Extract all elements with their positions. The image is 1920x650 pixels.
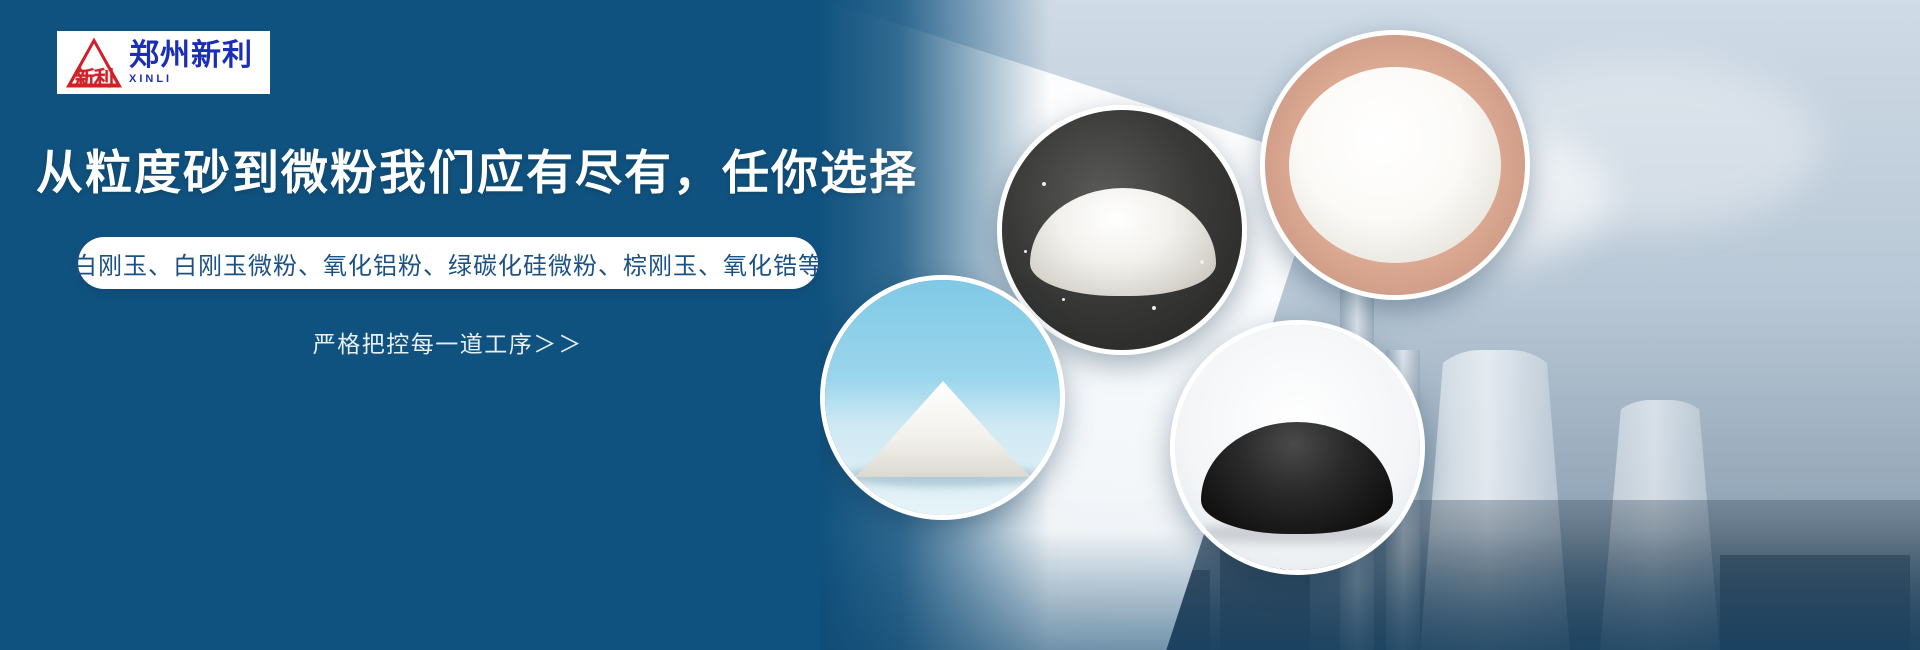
product-photo-white-powder-in-pink-bowl — [1260, 30, 1530, 300]
company-logo[interactable]: 新利 郑州新利 XINLI — [57, 31, 270, 94]
grit-pile — [1201, 422, 1393, 534]
photo-inner — [825, 280, 1060, 515]
photo-inner — [1175, 325, 1420, 570]
product-photo-black-grit-pile — [1170, 320, 1425, 575]
banner-headline: 从粒度砂到微粉我们应有尽有，任你选择 — [36, 144, 918, 202]
grain-speck — [1042, 182, 1046, 186]
grain-speck — [1024, 250, 1027, 253]
cta-link[interactable]: 严格把控每一道工序＞＞ — [78, 325, 818, 359]
logo-wordmark: 郑州新利 XINLI — [129, 40, 253, 85]
powder-mound — [1289, 67, 1501, 263]
grain-speck — [1152, 306, 1156, 310]
powder-cone — [855, 381, 1031, 477]
imagery-zone — [820, 0, 1920, 650]
photo-inner — [1265, 35, 1525, 295]
promo-banner: 新利 郑州新利 XINLI 从粒度砂到微粉我们应有尽有，任你选择 白刚玉、白刚玉… — [0, 0, 1920, 650]
logo-mark-label: 新利 — [63, 69, 125, 89]
cta-arrows: ＞＞ — [533, 331, 583, 357]
triangle-logo-icon: 新利 — [63, 35, 125, 91]
logo-company-name-en: XINLI — [129, 73, 253, 85]
product-photo-white-powder-cone — [820, 275, 1065, 520]
product-list-text: 白刚玉、白刚玉微粉、氧化铝粉、绿碳化硅微粉、棕刚玉、氧化锆等 — [73, 246, 823, 281]
cta-label: 严格把控每一道工序 — [313, 331, 534, 357]
logo-company-name-cn: 郑州新利 — [129, 40, 253, 72]
grain-speck — [1062, 298, 1065, 301]
product-list-pill: 白刚玉、白刚玉微粉、氧化铝粉、绿碳化硅微粉、棕刚玉、氧化锆等 — [78, 237, 818, 289]
grain-speck — [1200, 260, 1204, 264]
